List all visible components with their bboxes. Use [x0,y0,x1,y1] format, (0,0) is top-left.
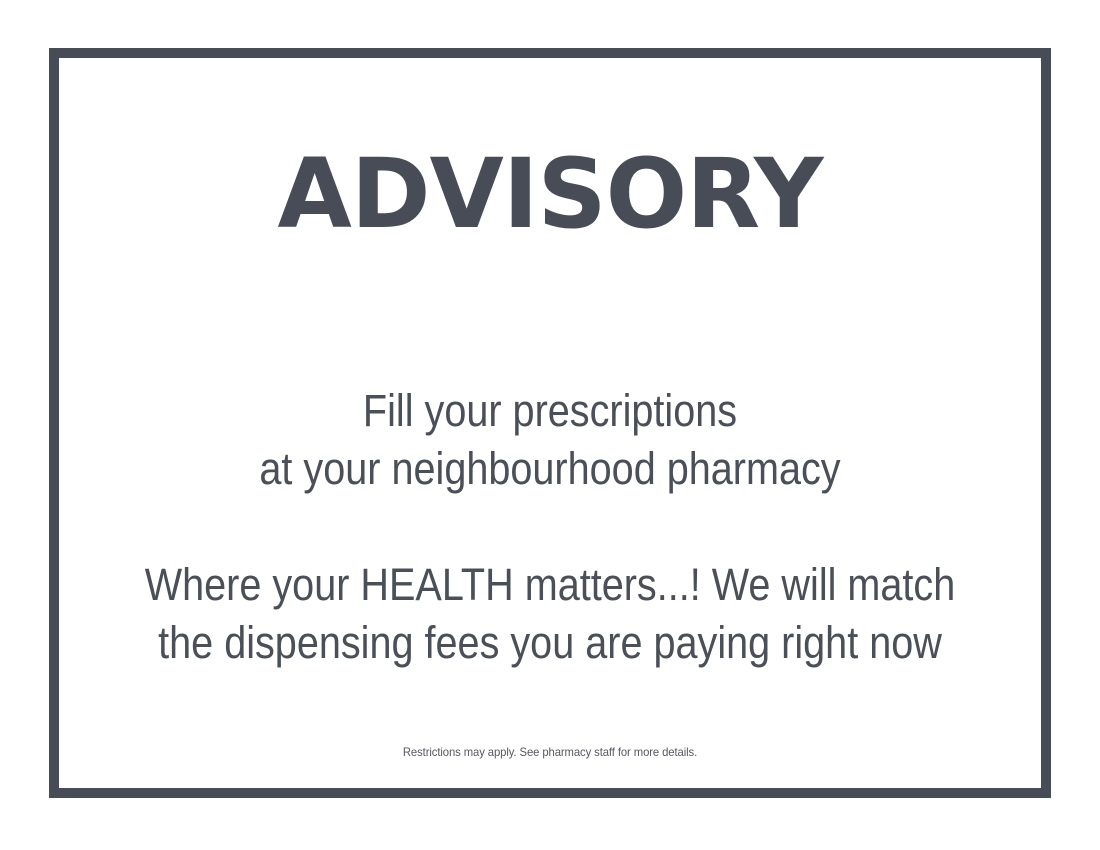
page-title: ADVISORY [59,146,1041,242]
secondary-message: Where your HEALTH matters...! We will ma… [118,556,982,672]
poster-content-area: ADVISORY Fill your prescriptions at your… [59,58,1041,788]
disclaimer-text: Restrictions may apply. See pharmacy sta… [88,744,1011,760]
primary-message-line-1: Fill your prescriptions [118,382,982,440]
poster-border-frame: ADVISORY Fill your prescriptions at your… [49,48,1051,798]
secondary-message-line-1: Where your HEALTH matters...! We will ma… [118,556,982,614]
secondary-message-line-2: the dispensing fees you are paying right… [118,614,982,672]
primary-message: Fill your prescriptions at your neighbou… [118,382,982,498]
primary-message-line-2: at your neighbourhood pharmacy [118,440,982,498]
advisory-poster: ADVISORY Fill your prescriptions at your… [0,0,1100,850]
